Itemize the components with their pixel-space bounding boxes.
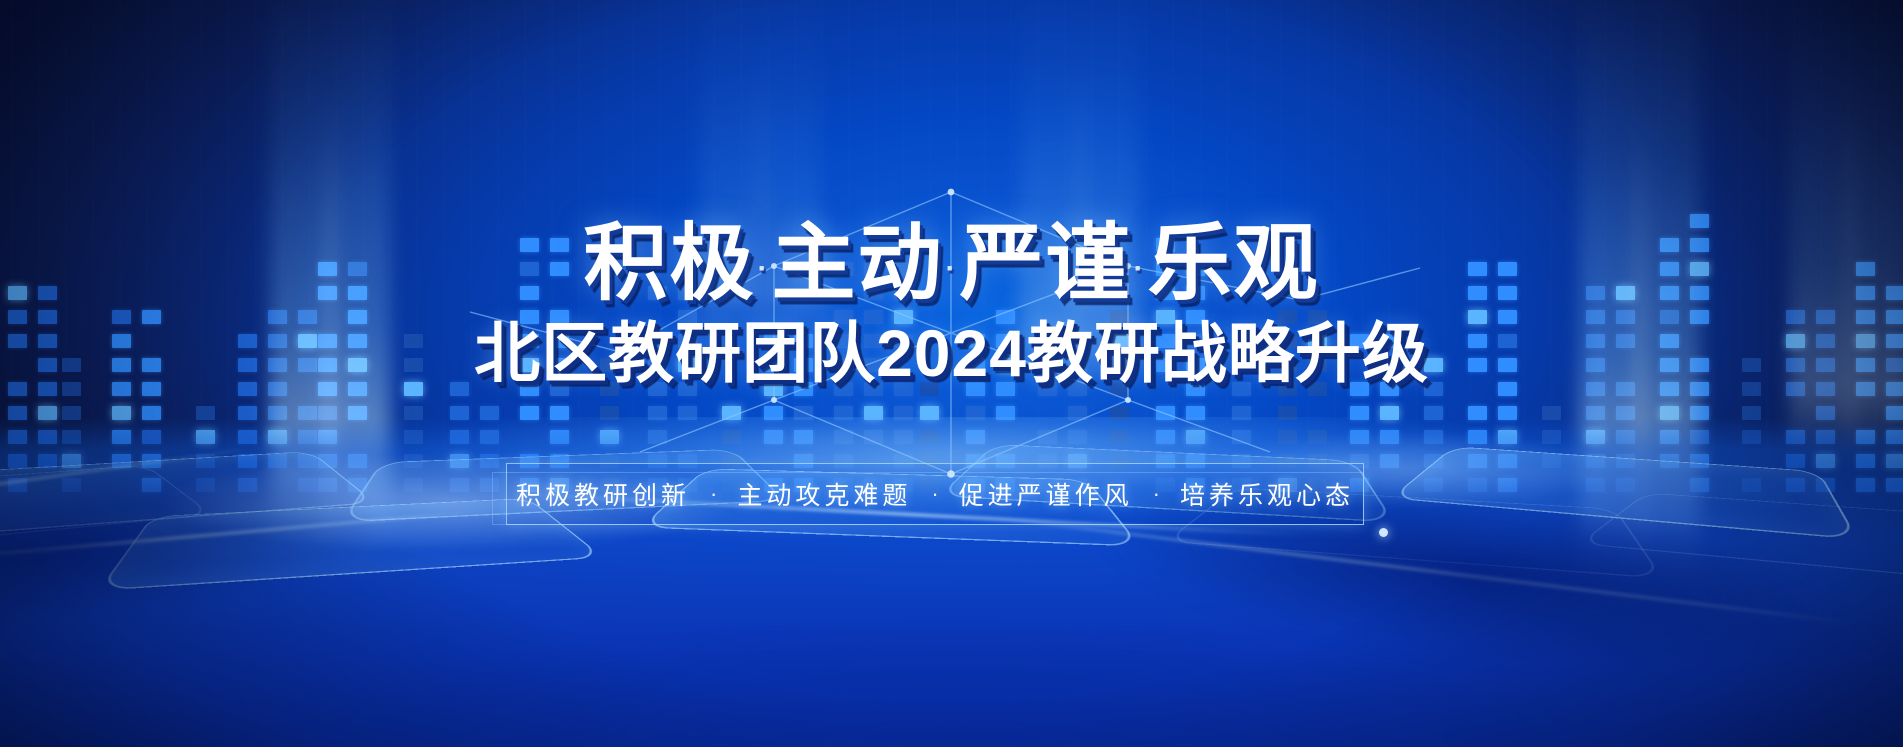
tagline-item: 主动攻克难题	[737, 476, 911, 512]
title-word: 严谨	[960, 216, 1132, 310]
tagline-item: 培养乐观心态	[1180, 476, 1354, 512]
title-separator-dot: ·	[757, 252, 769, 286]
tagline-separator-dot: ·	[1153, 481, 1160, 507]
tagline-item: 积极教研创新	[516, 476, 690, 512]
banner-root: 积极·主动·严谨·乐观 北区教研团队2024教研战略升级 积极教研创新·主动攻克…	[0, 0, 1903, 747]
title-separator-dot: ·	[1134, 252, 1146, 286]
tagline-container: 积极教研创新·主动攻克难题·促进严谨作风·培养乐观心态	[506, 463, 1364, 525]
sub-title: 北区教研团队2024教研战略升级	[0, 300, 1903, 396]
tagline-text: 积极教研创新·主动攻克难题·促进严谨作风·培养乐观心态	[506, 463, 1364, 525]
title-word: 主动	[771, 216, 943, 310]
title-word: 乐观	[1148, 216, 1320, 310]
tagline-item: 促进严谨作风	[959, 476, 1133, 512]
tagline-separator-dot: ·	[710, 481, 717, 507]
tagline-node-dot	[1379, 528, 1388, 537]
floor-shadow	[0, 441, 396, 663]
title-separator-dot: ·	[946, 252, 958, 286]
tagline-separator-dot: ·	[931, 481, 938, 507]
title-word: 积极	[583, 216, 755, 310]
main-title: 积极·主动·严谨·乐观	[0, 196, 1903, 317]
